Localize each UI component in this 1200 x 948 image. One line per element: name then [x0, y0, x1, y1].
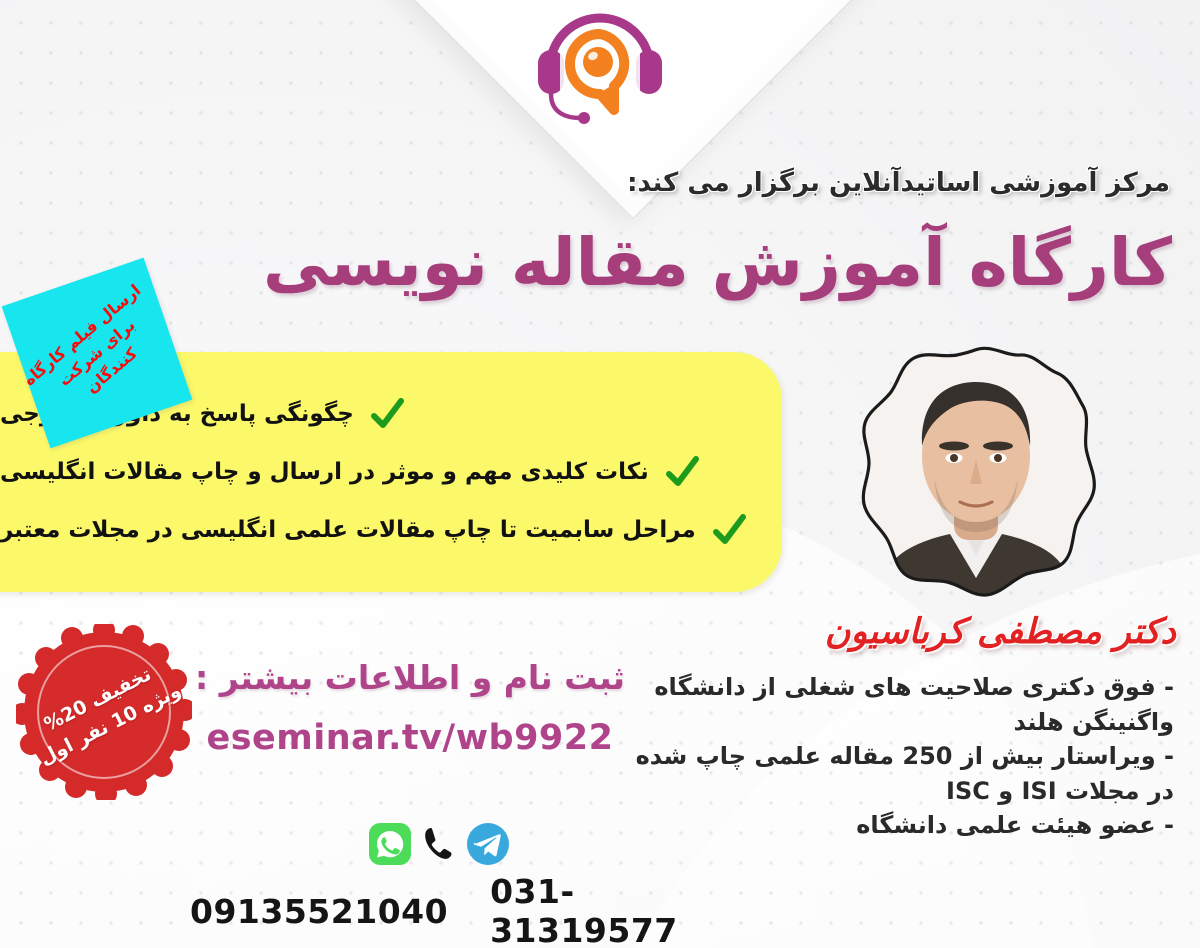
instructor-name: دکتر مصطفی کرباسیون: [616, 612, 1176, 652]
bio-line: در مجلات ISI و ISC: [614, 774, 1174, 809]
avatar: [850, 342, 1100, 608]
check-icon: [665, 455, 699, 489]
page-title: کارگاه آموزش مقاله نویسی: [172, 224, 1172, 301]
discount-seal: تخفیف 20% ویژه 10 نفر اول: [16, 624, 192, 800]
list-item: نکات کلیدی مهم و موثر در ارسال و چاپ مقا…: [0, 455, 768, 489]
headset-chat-logo-icon: [524, 6, 676, 124]
list-item: مراحل سابمیت تا چاپ مقالات علمی انگلیسی …: [0, 513, 768, 547]
bio-line: واگنینگن هلند: [614, 705, 1174, 740]
mobile-number[interactable]: 09135521040: [190, 892, 448, 931]
list-item-label: مراحل سابمیت تا چاپ مقالات علمی انگلیسی …: [0, 517, 696, 543]
whatsapp-icon[interactable]: [368, 822, 412, 870]
registration-url-link[interactable]: eseminar.tv/wb9922: [190, 718, 630, 758]
organizer-subtitle: مرکز آموزشی اساتیدآنلاین برگزار می کند:: [210, 168, 1170, 198]
bio-line: - عضو هیئت علمی دانشگاه: [614, 808, 1174, 843]
instructor-bio: - فوق دکتری صلاحیت های شغلی از دانشگاه و…: [614, 670, 1174, 843]
bio-line: - فوق دکتری صلاحیت های شغلی از دانشگاه: [614, 670, 1174, 705]
contact-icons: [368, 822, 510, 870]
poster-canvas: مرکز آموزشی اساتیدآنلاین برگزار می کند: …: [0, 0, 1200, 948]
check-icon: [712, 513, 746, 547]
list-item-label: نکات کلیدی مهم و موثر در ارسال و چاپ مقا…: [0, 459, 649, 485]
phone-icon[interactable]: [419, 822, 459, 870]
phone-numbers: 09135521040 031-31319577: [190, 872, 750, 948]
check-icon: [370, 397, 404, 431]
landline-number[interactable]: 031-31319577: [490, 872, 750, 948]
registration-label: ثبت نام و اطلاعات بیشتر :: [190, 658, 630, 697]
telegram-icon[interactable]: [466, 822, 510, 870]
bio-line: - ویراستار بیش از 250 مقاله علمی چاپ شده: [614, 739, 1174, 774]
